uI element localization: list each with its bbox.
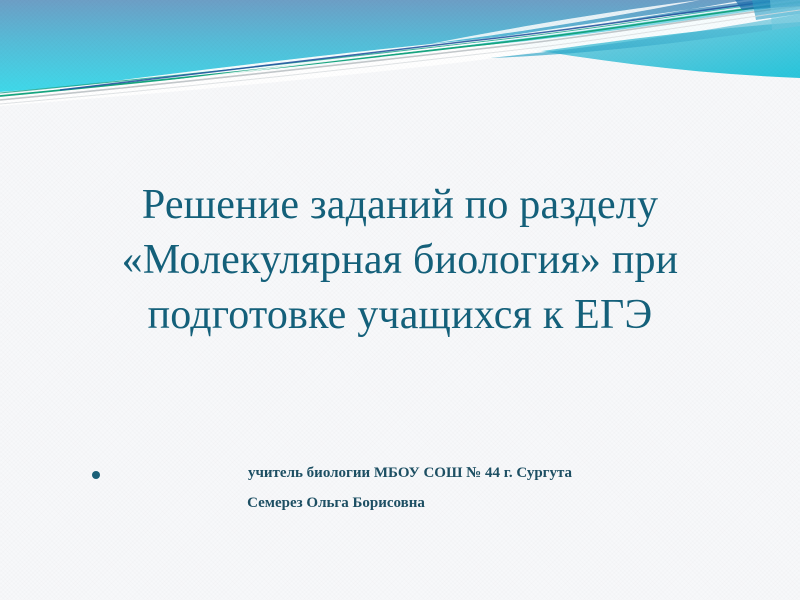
title-line-3: подготовке учащихся к ЕГЭ bbox=[55, 288, 745, 343]
banner-layers bbox=[0, 0, 800, 110]
presentation-slide: Решение заданий по разделу «Молекулярная… bbox=[0, 0, 800, 600]
slide-title: Решение заданий по разделу «Молекулярная… bbox=[55, 178, 745, 343]
slide-subtitle: учитель биологии МБОУ СОШ № 44 г. Сургут… bbox=[80, 458, 740, 518]
subtitle-line-author: Семерез Ольга Борисовна bbox=[80, 488, 740, 518]
wave-banner-graphic bbox=[0, 0, 800, 110]
subtitle-line-affiliation: учитель биологии МБОУ СОШ № 44 г. Сургут… bbox=[80, 458, 740, 488]
bullet-point-icon bbox=[92, 471, 100, 479]
title-line-2: «Молекулярная биология» при bbox=[55, 233, 745, 288]
banner-streak-3 bbox=[770, 0, 800, 30]
wave-banner-svg bbox=[0, 0, 800, 110]
title-line-1: Решение заданий по разделу bbox=[55, 178, 745, 233]
